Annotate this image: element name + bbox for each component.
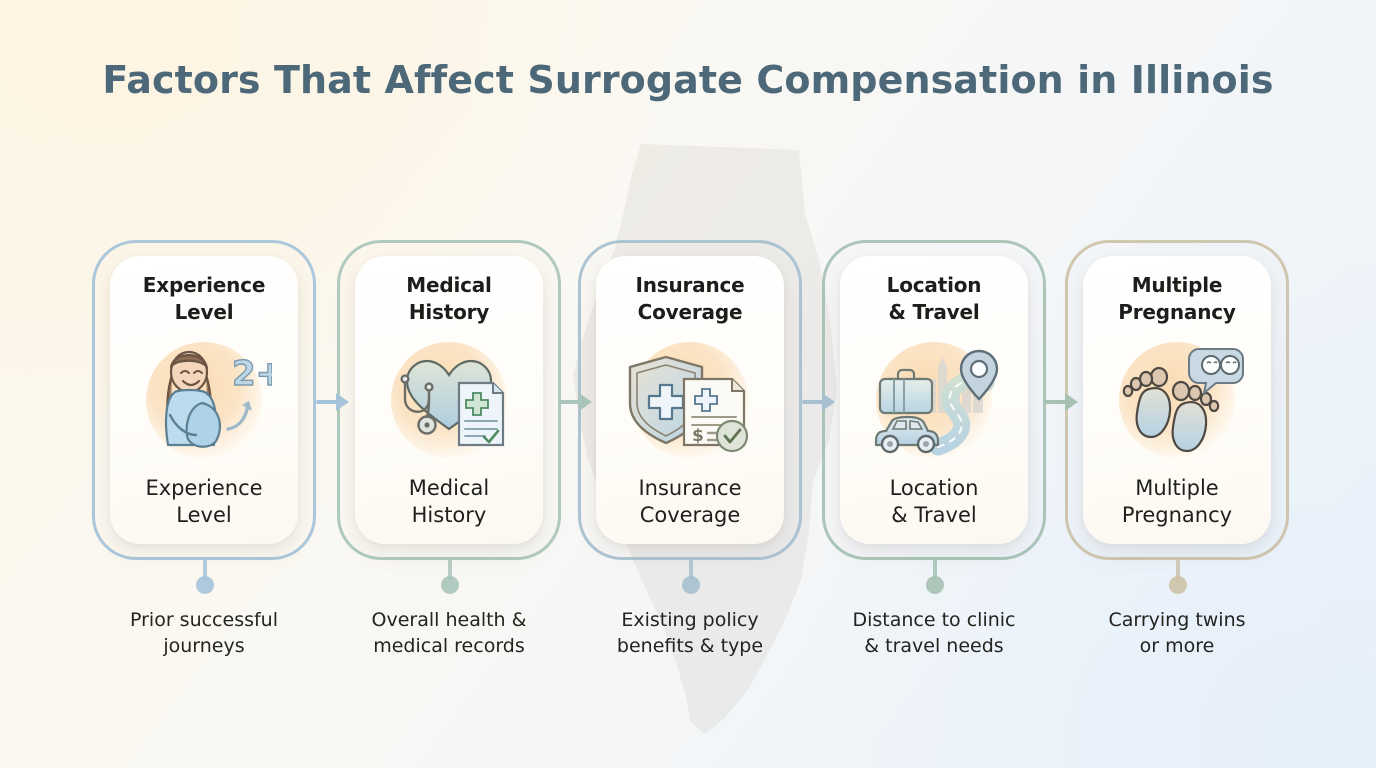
card-title: Multiple Pregnancy (1118, 272, 1235, 326)
baby-footprints-twins-icon (1109, 341, 1245, 459)
caption-line1: Prior successful (130, 609, 278, 631)
card-title: Medical History (406, 272, 491, 326)
connector-dot (682, 576, 700, 594)
card-label: Insurance Coverage (638, 475, 741, 530)
infographic-canvas: Factors That Affect Surrogate Compensati… (0, 0, 1376, 768)
card-body[interactable]: Experience Level (110, 256, 298, 544)
card-title: Experience Level (143, 272, 265, 326)
shield-policy-dollar-check-icon: $ (622, 341, 758, 459)
card-label: Medical History (409, 475, 489, 530)
factor-card-medical-history[interactable]: Medical History (337, 240, 561, 560)
card-icon-area (363, 326, 535, 474)
card-title-line1: Experience (143, 273, 265, 297)
connector-dot (1169, 576, 1187, 594)
card-label: Location & Travel (890, 475, 979, 530)
card-label-line2: Coverage (640, 503, 741, 527)
card-body[interactable]: Insurance Coverage (596, 256, 784, 544)
card-title: Insurance Coverage (635, 272, 744, 326)
card-title-line2: Coverage (638, 300, 743, 324)
card-icon-area: 2+ (118, 326, 290, 474)
card-title-line2: Level (175, 300, 234, 324)
card-title-line1: Location (887, 273, 982, 297)
card-caption: Existing policy benefits & type (558, 608, 822, 659)
card-label-line2: Level (176, 503, 231, 527)
card-body[interactable]: Medical History (355, 256, 543, 544)
card-label-line2: & Travel (891, 503, 976, 527)
caption-line2: benefits & type (617, 635, 763, 657)
factor-flow: Experience Level (0, 240, 1376, 570)
card-caption: Prior successful journeys (72, 608, 336, 659)
caption-line1: Carrying twins (1108, 609, 1245, 631)
card-label-line1: Insurance (638, 476, 741, 500)
caption-line1: Existing policy (621, 609, 758, 631)
caption-line2: journeys (163, 635, 244, 657)
factor-card-multiple-pregnancy[interactable]: Multiple Pregnancy (1065, 240, 1289, 560)
card-caption: Distance to clinic & travel needs (802, 608, 1066, 659)
connector-dot (196, 576, 214, 594)
card-title-line1: Multiple (1132, 273, 1223, 297)
card-label-line1: Location (890, 476, 979, 500)
card-title: Location & Travel (887, 272, 982, 326)
card-title-line1: Insurance (635, 273, 744, 297)
card-label: Experience Level (145, 475, 262, 530)
pregnant-woman-2plus-icon: 2+ (136, 341, 272, 459)
card-caption: Carrying twins or more (1045, 608, 1309, 659)
card-icon-area (848, 326, 1020, 474)
card-label-line1: Medical (409, 476, 489, 500)
card-label-line2: History (412, 503, 487, 527)
card-label-line1: Multiple (1135, 476, 1218, 500)
card-title-line2: & Travel (888, 300, 979, 324)
card-label-line1: Experience (145, 476, 262, 500)
icon-badge-text: 2+ (232, 354, 272, 394)
heart-stethoscope-record-icon (381, 341, 517, 459)
connector-dot (441, 576, 459, 594)
card-label-line2: Pregnancy (1122, 503, 1232, 527)
card-label: Multiple Pregnancy (1122, 475, 1232, 530)
caption-line1: Distance to clinic (852, 609, 1015, 631)
card-title-line1: Medical (406, 273, 491, 297)
caption-line2: or more (1140, 635, 1215, 657)
factor-card-location-travel[interactable]: Location & Travel (822, 240, 1046, 560)
card-icon-area: $ (604, 326, 776, 474)
factor-card-experience-level[interactable]: Experience Level (92, 240, 316, 560)
connector-dot (926, 576, 944, 594)
card-title-line2: History (409, 300, 489, 324)
caption-line1: Overall health & (372, 609, 527, 631)
caption-line2: medical records (373, 635, 525, 657)
card-title-line2: Pregnancy (1118, 300, 1235, 324)
card-body[interactable]: Location & Travel (840, 256, 1028, 544)
page-title: Factors That Affect Surrogate Compensati… (0, 58, 1376, 102)
card-body[interactable]: Multiple Pregnancy (1083, 256, 1271, 544)
card-caption: Overall health & medical records (317, 608, 581, 659)
icon-badge-text: $ (692, 426, 704, 446)
suitcase-car-road-pin-icon (866, 341, 1002, 459)
caption-line2: & travel needs (864, 635, 1003, 657)
card-icon-area (1091, 326, 1263, 474)
factor-card-insurance-coverage[interactable]: Insurance Coverage (578, 240, 802, 560)
